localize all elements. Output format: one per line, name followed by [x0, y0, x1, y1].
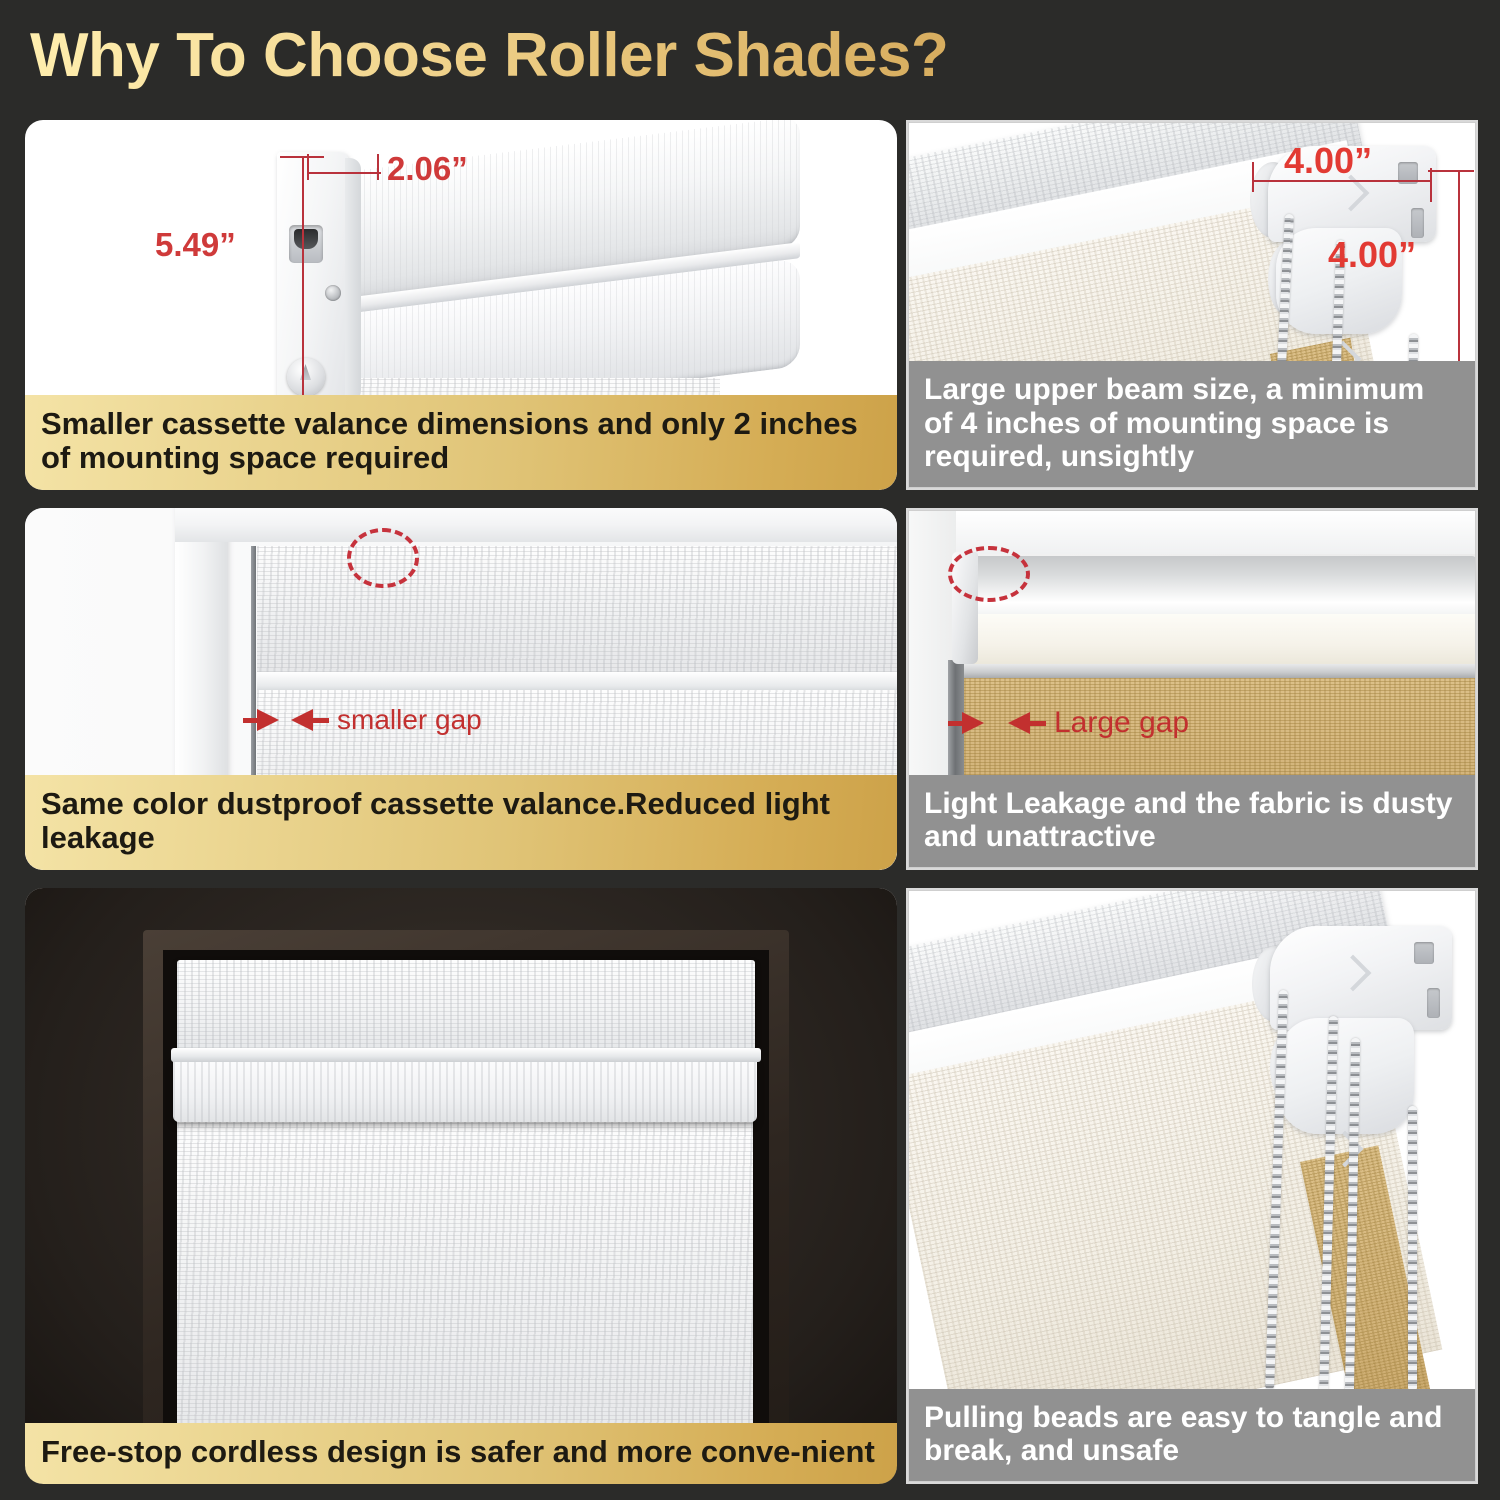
gap-label: Large gap	[1054, 706, 1189, 740]
tension-knob	[287, 358, 325, 396]
gap-annotation: smaller gap	[243, 704, 482, 736]
bracket-upper-body	[1270, 926, 1452, 1030]
dim-tick-right	[377, 154, 379, 180]
window-jamb	[175, 508, 227, 818]
panel-smaller-cassette: 2.06” 5.49” Smaller cassette valance dim…	[25, 120, 897, 490]
panel-light-leakage: Large gap Light Leakage and the fabric i…	[906, 508, 1478, 870]
photo-window-scene	[25, 888, 897, 1484]
dim-label-width: 2.06”	[387, 150, 468, 188]
dim-tick-left	[1252, 162, 1254, 192]
panel-large-upper-beam: 4.00” 4.00” Large upper beam size, a min…	[906, 120, 1478, 490]
valance-lip	[257, 672, 897, 692]
panel-cordless-design: Free-stop cordless design is safer and m…	[25, 888, 897, 1484]
arrow-right-icon	[962, 712, 984, 734]
highlight-circle	[948, 546, 1030, 602]
arrow-right-icon	[257, 709, 279, 731]
dim-label-height: 4.00”	[1328, 234, 1416, 276]
page-title: Why To Choose Roller Shades?	[30, 20, 948, 91]
valance-lower-shell	[173, 1060, 757, 1122]
roller-beam-band	[956, 614, 1476, 666]
dim-label-height: 5.49”	[155, 226, 236, 264]
dim-tick-top	[1428, 170, 1474, 172]
arrow-left-icon	[1008, 712, 1030, 734]
panel-pulling-beads: Pulling beads are easy to tangle and bre…	[906, 888, 1478, 1484]
shade-fabric	[177, 1120, 753, 1460]
bracket-lower-body	[1278, 1018, 1414, 1134]
roller-beam-top	[956, 556, 1476, 618]
dim-line-width	[307, 172, 381, 174]
highlight-circle	[347, 528, 419, 588]
panel-caption: Free-stop cordless design is safer and m…	[25, 1423, 897, 1484]
comparison-grid: 2.06” 5.49” Smaller cassette valance dim…	[0, 104, 1500, 1500]
dim-tick-right	[1430, 168, 1432, 202]
panel-caption: Pulling beads are easy to tangle and bre…	[908, 1389, 1476, 1482]
window-head-trim	[175, 508, 897, 542]
panel-caption: Large upper beam size, a minimum of 4 in…	[908, 361, 1476, 488]
cassette-valance	[177, 960, 755, 1056]
panel-caption: Same color dustproof cassette valance.Re…	[25, 775, 897, 870]
panel-caption: Light Leakage and the fabric is dusty an…	[908, 775, 1476, 868]
dim-label-width: 4.00”	[1284, 140, 1372, 182]
panel-dustproof-valance: smaller gap Same color dustproof cassett…	[25, 508, 897, 870]
header: Why To Choose Roller Shades?	[30, 16, 1470, 94]
gap-annotation: Large gap	[948, 706, 1189, 740]
valance-lip	[171, 1048, 761, 1062]
chevron-icon	[1335, 955, 1372, 992]
dim-line-height	[1458, 170, 1460, 366]
bracket-slot	[289, 225, 323, 263]
bracket-slot-icon	[1427, 988, 1440, 1018]
dim-tick-top	[280, 156, 324, 158]
gap-label: smaller gap	[337, 704, 482, 736]
bead-chain[interactable]	[1408, 1106, 1417, 1392]
screw-icon	[325, 285, 341, 301]
panel-caption: Smaller cassette valance dimensions and …	[25, 395, 897, 490]
arrow-left-icon	[291, 709, 313, 731]
beam-rail	[956, 664, 1476, 678]
bracket-notch-icon	[1414, 942, 1434, 964]
